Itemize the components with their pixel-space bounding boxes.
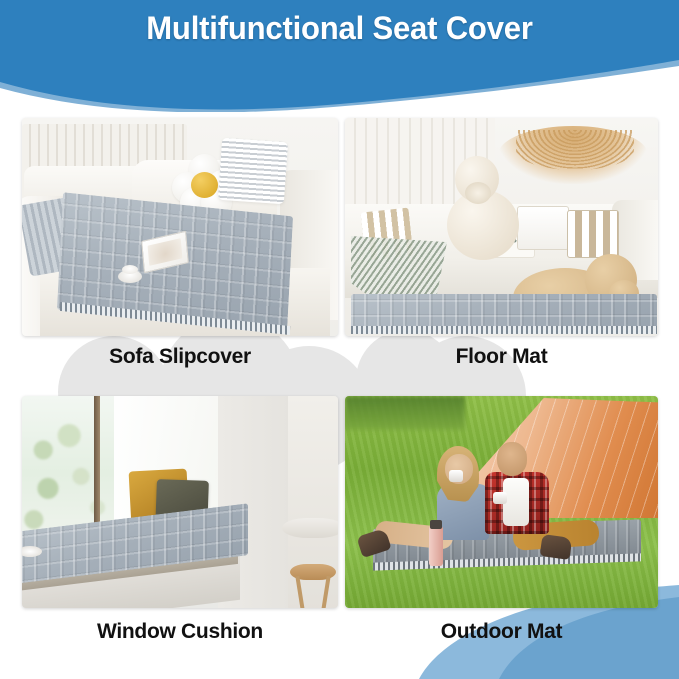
flower-pillow-center bbox=[191, 172, 218, 198]
teacup bbox=[122, 265, 138, 274]
scene-outdoor-mat bbox=[345, 396, 658, 608]
white-pillow bbox=[517, 206, 569, 250]
page-title: Multifunctional Seat Cover bbox=[10, 10, 669, 47]
scene-window-cushion bbox=[22, 396, 338, 608]
woman-mug bbox=[449, 470, 463, 482]
photo-floor-mat bbox=[345, 118, 658, 336]
striped-pillow-right bbox=[218, 138, 288, 204]
dog-sitting-on-sofa bbox=[441, 156, 523, 260]
floor-mat-fringe bbox=[351, 326, 657, 334]
woven-wall-hanging-fringe bbox=[516, 130, 634, 170]
man-mug bbox=[493, 492, 507, 504]
scene-sofa-slipcover bbox=[22, 118, 338, 336]
feature-card-floor-mat[interactable] bbox=[345, 118, 658, 336]
feature-card-window-cushion[interactable] bbox=[22, 396, 338, 608]
feature-label-window-cushion: Window Cushion bbox=[22, 620, 338, 644]
striped-pillow-right bbox=[567, 210, 619, 258]
tree-line bbox=[345, 396, 465, 430]
feature-label-outdoor-mat: Outdoor Mat bbox=[345, 620, 658, 644]
feature-card-sofa-slipcover[interactable] bbox=[22, 118, 338, 336]
photo-window-cushion bbox=[22, 396, 338, 608]
window-frame-mullion bbox=[94, 396, 100, 538]
header-banner: Multifunctional Seat Cover bbox=[0, 0, 679, 112]
man-boot bbox=[540, 534, 573, 560]
man-white-tshirt bbox=[503, 478, 529, 526]
feature-label-sofa-slipcover: Sofa Slipcover bbox=[22, 345, 338, 369]
photo-sofa-slipcover bbox=[22, 118, 338, 336]
feature-label-floor-mat: Floor Mat bbox=[345, 345, 658, 369]
scene-floor-mat bbox=[345, 118, 658, 336]
side-table bbox=[282, 518, 338, 538]
thermos-cap bbox=[430, 520, 442, 529]
header-wave-graphic bbox=[0, 42, 679, 112]
photo-outdoor-mat bbox=[345, 396, 658, 608]
feature-card-outdoor-mat[interactable] bbox=[345, 396, 658, 608]
thermos-bottle bbox=[429, 526, 443, 566]
man-head bbox=[497, 442, 527, 476]
